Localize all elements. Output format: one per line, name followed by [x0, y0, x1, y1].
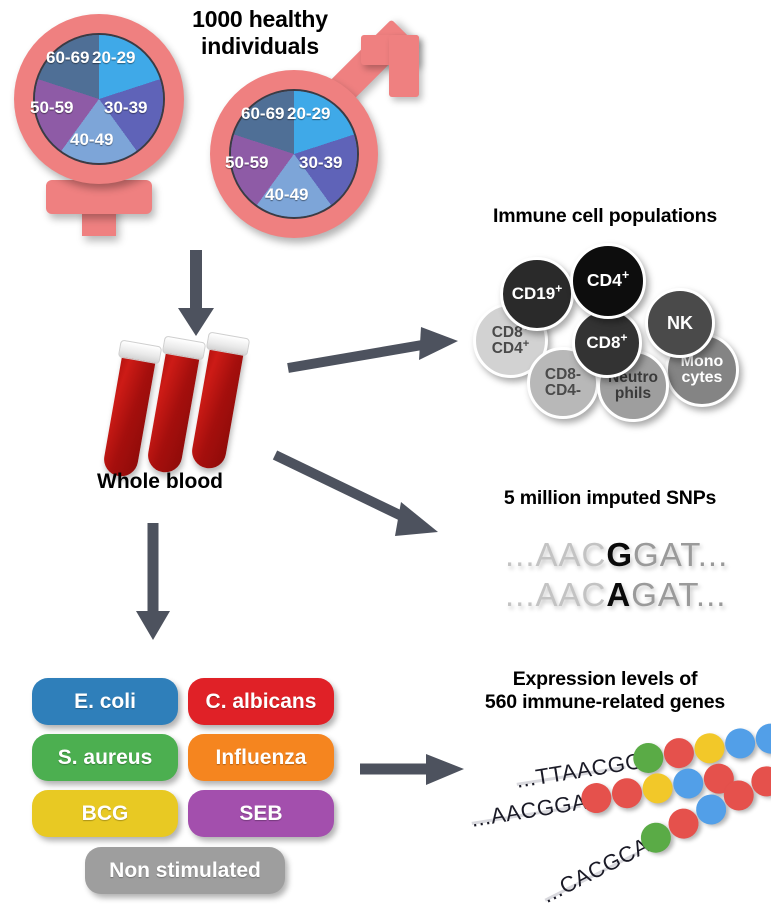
gene-bead [723, 726, 757, 760]
study-design-figure: 1000 healthy individuals 20-29 30-39 40-… [0, 0, 771, 922]
male-symbol: 20-29 30-39 40-49 50-59 60-69 [205, 40, 415, 250]
female-pie-label-40-49: 40-49 [70, 130, 113, 150]
gene-bead [610, 776, 644, 810]
gene-bead [671, 766, 705, 800]
arrow-cohort-to-blood [170, 250, 240, 340]
snps-title: 5 million imputed SNPs [460, 487, 760, 510]
stimulus-box-seb[interactable]: SEB [188, 790, 334, 837]
gene-bead [754, 721, 771, 755]
cell-cd19pos: CD19+ [500, 257, 574, 331]
genes-title-line2: 560 immune-related genes [440, 691, 770, 714]
male-pie-label-50-59: 50-59 [225, 153, 268, 173]
male-pie-label-30-39: 30-39 [299, 153, 342, 173]
gene-bead [662, 736, 696, 770]
genes-title-line1: Expression levels of [440, 668, 770, 691]
arrow-blood-to-immune [288, 325, 463, 385]
cell-label-mono-line2: cytes [682, 370, 723, 386]
cell-label-nk: NK [667, 314, 693, 332]
cell-label-dp-line1: CD8 [492, 324, 523, 341]
cell-neutrophils: Neutro phils [597, 350, 669, 422]
female-symbol-crossbar [46, 180, 152, 214]
cell-label-dn-line1: CD8- [545, 367, 581, 383]
cell-label-cd8: CD8 [586, 333, 620, 352]
snp-variant-1: G [606, 536, 633, 573]
cell-label-cd19: CD19 [512, 284, 555, 303]
stimulus-label: S. aureus [58, 746, 153, 770]
cell-label-mono-line1: Mono [681, 354, 724, 370]
whole-blood-label: Whole blood [60, 470, 260, 494]
stimulus-label: SEB [239, 802, 282, 826]
stimulus-label: E. coli [74, 690, 136, 714]
genes-title: Expression levels of 560 immune-related … [440, 668, 770, 714]
stimulus-label: Non stimulated [109, 859, 261, 883]
cell-cd8neg-cd4neg: CD8- CD4- [527, 347, 599, 419]
tube-cap [206, 331, 250, 356]
snp-prefix-1: ...AAC [505, 536, 606, 573]
snp-sequence-allele-2: ...AACAGAT... [505, 576, 726, 614]
cell-monocytes: Mono cytes [665, 333, 739, 407]
stimulus-label: BCG [82, 802, 129, 826]
blood-tubes [108, 338, 268, 488]
snp-suffix-1: GAT... [633, 536, 728, 573]
cell-cd8pos: CD8+ [572, 308, 642, 378]
female-pie-label-60-69: 60-69 [46, 48, 89, 68]
arrow-stimuli-to-genes [360, 750, 470, 790]
cell-label-neutro-line2: phils [615, 386, 651, 402]
stimulus-box-non-stimulated[interactable]: Non stimulated [85, 847, 285, 894]
cell-label-neutro-line1: Neutro [608, 370, 658, 386]
snp-prefix-2: ...AAC [505, 576, 606, 613]
arrow-blood-to-stimuli [128, 523, 188, 643]
cell-label-dp-line2: CD4 [492, 340, 523, 357]
snp-suffix-2: GAT... [631, 576, 726, 613]
gene-bead [692, 731, 726, 765]
female-pie-label-30-39: 30-39 [104, 98, 147, 118]
female-pie-label-20-29: 20-29 [92, 48, 135, 68]
tube-cap [162, 335, 206, 360]
snp-variant-2: A [606, 576, 631, 613]
stimulus-box-c-albicans[interactable]: C. albicans [188, 678, 334, 725]
stimulus-label: Influenza [215, 746, 306, 770]
female-pie-label-50-59: 50-59 [30, 98, 73, 118]
male-symbol-arrowhead-b [389, 35, 419, 97]
arrow-blood-to-snps [275, 450, 455, 545]
male-pie-label-60-69: 60-69 [241, 104, 284, 124]
cell-cd4pos: CD4+ [570, 243, 646, 319]
cell-label-cd4: CD4 [587, 270, 622, 290]
stimulus-label: C. albicans [206, 690, 317, 714]
immune-title: Immune cell populations [440, 205, 770, 228]
stimulus-box-influenza[interactable]: Influenza [188, 734, 334, 781]
male-pie-label-20-29: 20-29 [287, 104, 330, 124]
female-symbol: 20-29 30-39 40-49 50-59 60-69 [8, 8, 198, 238]
stimulus-box-s-aureus[interactable]: S. aureus [32, 734, 178, 781]
gene-bead [640, 771, 674, 805]
cell-cd8pos-cd4pos: CD8+ CD4+ [473, 303, 548, 378]
cell-nk: NK [645, 288, 715, 358]
stimulus-box-e-coli[interactable]: E. coli [32, 678, 178, 725]
tube-cap [118, 339, 162, 364]
male-pie-label-40-49: 40-49 [265, 185, 308, 205]
stimulus-box-bcg[interactable]: BCG [32, 790, 178, 837]
snp-sequence-allele-1: ...AACGGAT... [505, 536, 728, 574]
cell-label-dn-line2: CD4- [545, 383, 581, 399]
